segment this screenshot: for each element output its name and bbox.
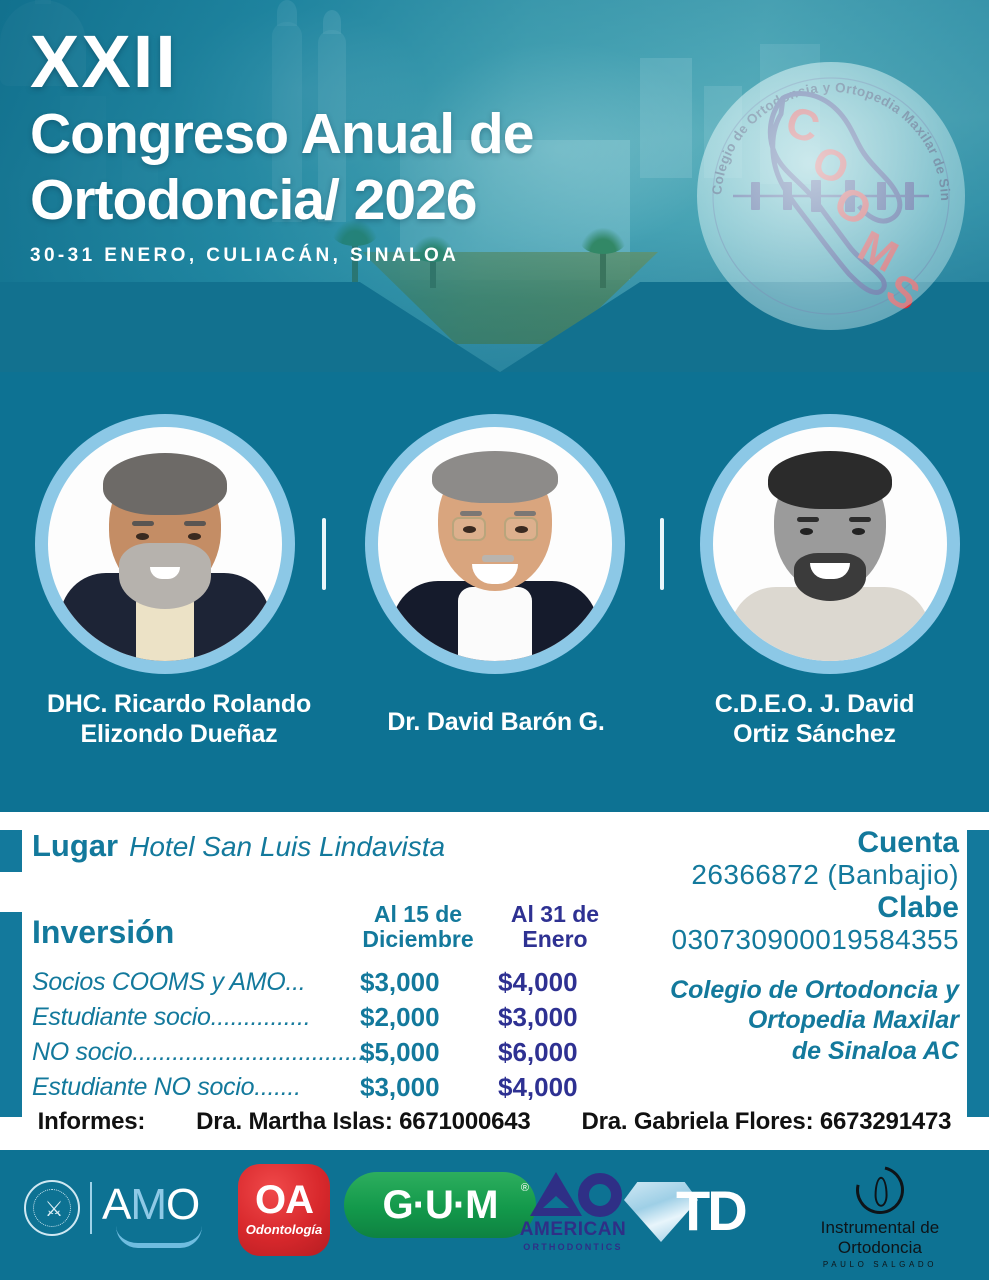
eye-left [136, 533, 149, 540]
eye-left [800, 528, 813, 535]
eyebrow-right [849, 517, 871, 522]
informes-label: Informes: [38, 1108, 146, 1135]
venue-value: Hotel San Luis Lindavista [129, 831, 445, 863]
eyebrow-left [132, 521, 154, 526]
price-column-header-december: Al 15 de Diciembre [338, 902, 498, 952]
portrait-photo-2 [378, 427, 612, 661]
cuenta-label: Cuenta [599, 826, 959, 859]
ao-letter-o-icon [578, 1173, 622, 1217]
accent-bar-right [967, 830, 989, 1117]
hair [432, 451, 558, 503]
amo-letter-m: M [130, 1180, 166, 1229]
speaker-name-1-line2: Elizondo Dueñaz [0, 720, 358, 750]
speaker-name-3-line1: C.D.E.O. J. David [640, 690, 989, 720]
eye-right [852, 528, 865, 535]
td-wordmark: TD [676, 1176, 745, 1246]
speaker-portrait-3 [700, 414, 960, 674]
speaker-portrait-1 [35, 414, 295, 674]
venue-label: Lugar [32, 828, 118, 864]
speaker-portrait-row [0, 410, 989, 685]
contact-martha-islas: Dra. Martha Islas: 6671000643 [196, 1108, 530, 1135]
congress-date-location: 30-31 ENERO, CULIACÁN, SINALOA [30, 245, 720, 267]
congress-title-line1: Congreso Anual de [30, 105, 720, 163]
contact-gabriela-flores: Dra. Gabriela Flores: 6673291473 [581, 1108, 951, 1135]
price-row-label: Estudiante socio............... [32, 1003, 310, 1032]
flame-icon [875, 1177, 888, 1207]
amo-smile-icon [116, 1226, 202, 1248]
ao-monogram-icon [508, 1172, 638, 1218]
eyebrow-right [184, 521, 206, 526]
eye-right [188, 533, 201, 540]
cooms-logo: Colegio de Ortodoncia y Ortopedia Maxila… [697, 62, 965, 330]
congress-title-line2: Ortodoncia/ 2026 [30, 171, 720, 229]
price-row-label: NO socio................................… [32, 1038, 365, 1067]
org-line2: Ortopedia Maxilar [599, 1005, 959, 1036]
poster-header: XXII Congreso Anual de Ortodoncia/ 2026 … [0, 0, 989, 372]
amo-letter-a: A [102, 1180, 130, 1229]
eyebrow-left [797, 517, 819, 522]
accent-bar-investment [0, 912, 22, 1117]
hair [103, 453, 227, 515]
flame-circle-icon [847, 1157, 913, 1223]
speaker-name-3: C.D.E.O. J. David Ortiz Sánchez [640, 690, 989, 749]
col-dec-line2: Diciembre [338, 927, 498, 952]
sponsor-logo-row: ⚔ AMO OA Odontología G·U·M ® AMERICAN [0, 1150, 989, 1280]
speaker-name-1-line1: DHC. Ricardo Rolando [0, 690, 358, 720]
hair [768, 451, 892, 509]
price-row: NO socio................................… [28, 1036, 628, 1071]
organization-name: Colegio de Ortodoncia y Ortopedia Maxila… [599, 975, 959, 1067]
oa-subtitle: Odontología [238, 1222, 330, 1237]
price-row: Socios COOMS y AMO... $3,000 $4,000 [28, 966, 628, 1001]
speaker-portrait-2 [365, 414, 625, 674]
ao-letter-a-icon [530, 1172, 582, 1216]
portrait-divider [322, 518, 326, 590]
investment-title: Inversión [32, 914, 174, 951]
clabe-value: 030730900019584355 [599, 924, 959, 956]
info-panel: Lugar Hotel San Luis Lindavista Inversió… [0, 812, 989, 1150]
speaker-names-row: DHC. Ricardo Rolando Elizondo Dueñaz Dr.… [0, 690, 989, 800]
speaker-name-2: Dr. David Barón G. [340, 708, 652, 738]
io-line1: Instrumental de Ortodoncia [790, 1218, 970, 1258]
price-december: $3,000 [360, 1072, 484, 1103]
price-row-label: Socios COOMS y AMO... [32, 968, 305, 997]
face-illustration [713, 427, 947, 661]
sponsor-footer: ⚔ AMO OA Odontología G·U·M ® AMERICAN [0, 1150, 989, 1280]
ao-line1: AMERICAN [508, 1219, 638, 1241]
io-line2: PAULO SALGADO [790, 1260, 970, 1269]
org-line3: de Sinaloa AC [599, 1036, 959, 1067]
col-dec-line1: Al 15 de [338, 902, 498, 927]
speakers-section: DHC. Ricardo Rolando Elizondo Dueñaz Dr.… [0, 372, 989, 812]
venue-row: Lugar Hotel San Luis Lindavista [32, 828, 445, 864]
investment-block: Inversión Al 15 de Diciembre Al 31 de En… [28, 900, 628, 1106]
amo-seal-icon: ⚔ [24, 1180, 80, 1236]
eye-left [463, 526, 476, 533]
seal-emblem-icon: ⚔ [42, 1197, 66, 1223]
contact-row: Informes: Dra. Martha Islas: 6671000643 … [0, 1108, 989, 1136]
oa-wordmark: OA [238, 1180, 330, 1220]
face-illustration [378, 427, 612, 661]
accent-bar-venue [0, 830, 22, 872]
cuenta-value: 26366872 (Banbajio) [599, 859, 959, 891]
price-december: $5,000 [360, 1037, 484, 1068]
org-line1: Colegio de Ortodoncia y [599, 975, 959, 1006]
sponsor-amo-logo: ⚔ AMO [24, 1174, 214, 1246]
price-row: Estudiante socio............... $2,000 $… [28, 1001, 628, 1036]
eye-right [515, 526, 528, 533]
clabe-label: Clabe [599, 891, 959, 924]
face-illustration [48, 427, 282, 661]
amo-letter-o: O [166, 1180, 199, 1229]
sponsor-instrumental-ortodoncia-logo: Instrumental de Ortodoncia PAULO SALGADO [790, 1166, 970, 1264]
ao-line2: ORTHODONTICS [508, 1242, 638, 1252]
portrait-divider [660, 518, 664, 590]
mustache [482, 555, 514, 562]
portrait-photo-3 [713, 427, 947, 661]
price-december: $2,000 [360, 1002, 484, 1033]
amo-wordmark: AMO [102, 1180, 199, 1230]
edition-roman-numeral: XXII [30, 26, 720, 97]
investment-header: Inversión Al 15 de Diciembre Al 31 de En… [28, 900, 628, 966]
logo-circle-background [697, 62, 965, 330]
price-january: $4,000 [498, 1072, 622, 1103]
bank-account-block: Cuenta 26366872 (Banbajio) Clabe 0307309… [599, 826, 959, 1066]
congress-poster: XXII Congreso Anual de Ortodoncia/ 2026 … [0, 0, 989, 1280]
portrait-photo-1 [48, 427, 282, 661]
speaker-name-2-line1: Dr. David Barón G. [340, 708, 652, 738]
price-december: $3,000 [360, 967, 484, 998]
eyebrow-left [460, 511, 482, 516]
sponsor-american-orthodontics-logo: AMERICAN ORTHODONTICS [508, 1172, 638, 1258]
sponsor-td-logo: TD [624, 1176, 784, 1250]
price-row-label: Estudiante NO socio....... [32, 1073, 301, 1102]
header-text-block: XXII Congreso Anual de Ortodoncia/ 2026 … [30, 26, 720, 267]
shirt-collar [458, 587, 532, 661]
sponsor-oa-odontologia-logo: OA Odontología [238, 1164, 330, 1256]
speaker-name-1: DHC. Ricardo Rolando Elizondo Dueñaz [0, 690, 358, 749]
logo-divider [90, 1182, 92, 1234]
speaker-name-3-line2: Ortiz Sánchez [640, 720, 989, 750]
eyebrow-right [514, 511, 536, 516]
price-row: Estudiante NO socio....... $3,000 $4,000 [28, 1071, 628, 1106]
